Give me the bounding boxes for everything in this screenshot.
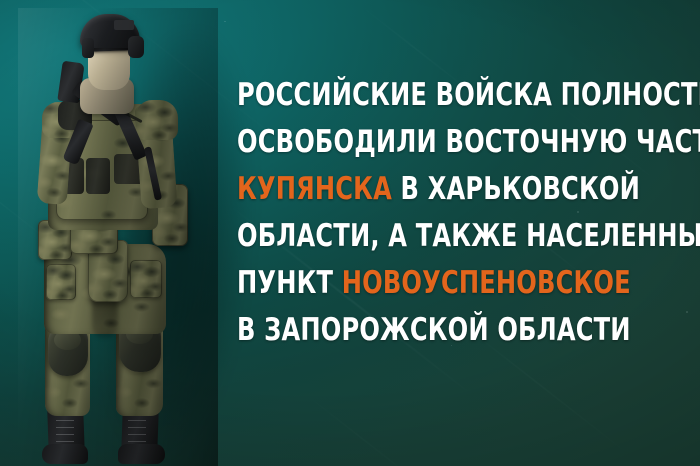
helmet-rail-icon	[114, 20, 134, 30]
headline-line-4-text: ОБЛАСТИ, А ТАКЖЕ НАСЕЛЕННЫЙ	[237, 218, 700, 254]
headline-line-1: РОССИЙСКИЕ ВОЙСКА ПОЛНОСТЬЮ	[237, 72, 565, 119]
highlight-novouspenovskoe: НОВОУСПЕНОВСКОЕ	[342, 265, 631, 301]
boot-right-toe-icon	[118, 444, 165, 464]
news-graphic-card: РОССИЙСКИЕ ВОЙСКА ПОЛНОСТЬЮ ОСВОБОДИЛИ В…	[0, 0, 700, 466]
headline-line-3-text: В ХАРЬКОВСКОЙ	[392, 171, 640, 207]
thigh-pocket-left-icon	[46, 264, 76, 300]
headline-line-5: ПУНКТ НОВОУСПЕНОВСКОЕ	[237, 260, 565, 307]
headline-line-1-text: РОССИЙСКИЕ ВОЙСКА ПОЛНОСТЬЮ	[237, 77, 700, 113]
mag-pouch-2-icon	[86, 158, 110, 194]
headline-line-4: ОБЛАСТИ, А ТАКЖЕ НАСЕЛЕННЫЙ	[237, 213, 565, 260]
helmet-strap-icon	[82, 38, 94, 58]
headline-line-5-text: ПУНКТ	[237, 265, 342, 301]
face-mask-icon	[88, 46, 130, 90]
headline-line-2-text: ОСВОБОДИЛИ ВОСТОЧНУЮ ЧАСТЬ	[237, 124, 700, 160]
helmet-ear-cup-icon	[128, 36, 144, 58]
headline-line-6: В ЗАПОРОЖСКОЙ ОБЛАСТИ	[237, 307, 565, 354]
thigh-pocket-right-icon	[130, 260, 162, 298]
headline-block: РОССИЙСКИЕ ВОЙСКА ПОЛНОСТЬЮ ОСВОБОДИЛИ В…	[237, 72, 657, 354]
headline-line-3: КУПЯНСКА В ХАРЬКОВСКОЙ	[237, 166, 565, 213]
headline-line-2: ОСВОБОДИЛИ ВОСТОЧНУЮ ЧАСТЬ	[237, 119, 565, 166]
soldier-figure	[18, 8, 218, 466]
highlight-kupyansk: КУПЯНСКА	[237, 171, 392, 207]
boot-left-toe-icon	[42, 444, 88, 464]
headline-line-6-text: В ЗАПОРОЖСКОЙ ОБЛАСТИ	[237, 312, 631, 348]
